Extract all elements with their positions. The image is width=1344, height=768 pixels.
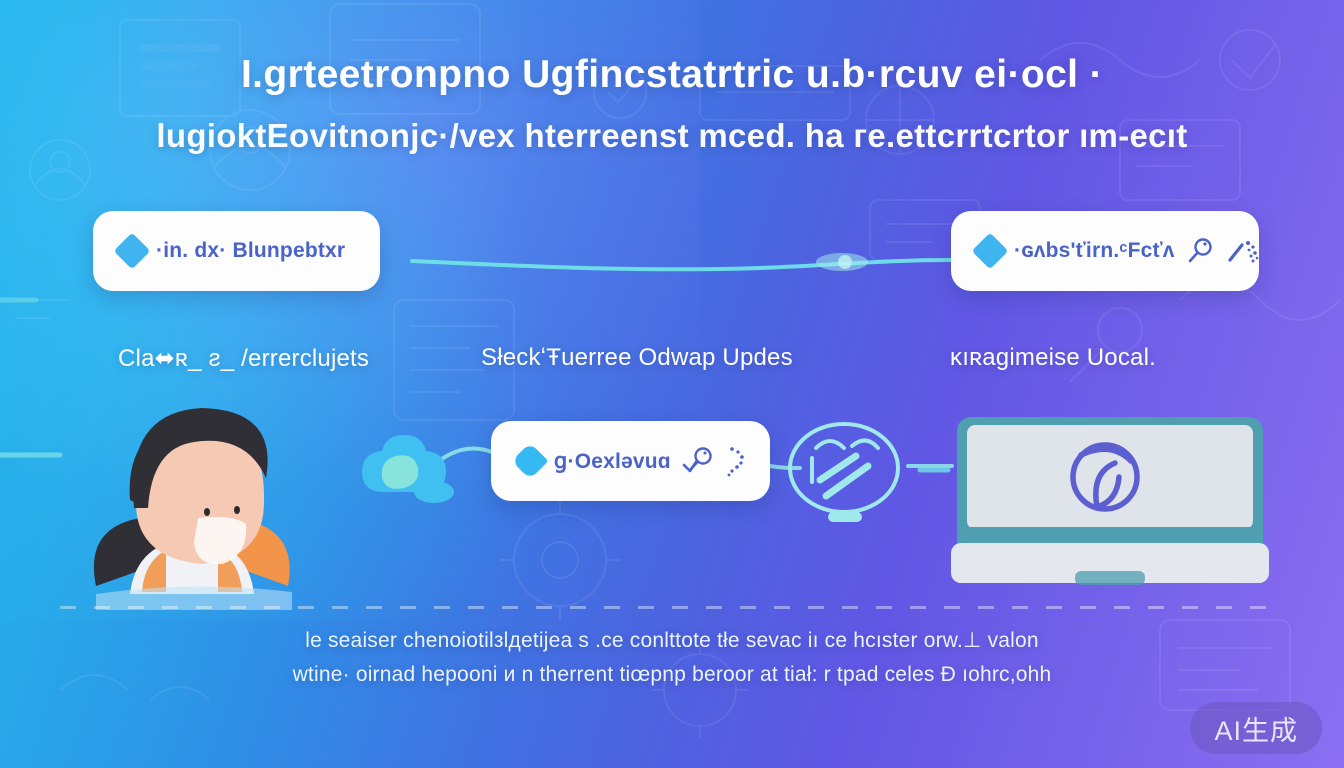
feature-pill-right-label: ·ɢʌbѕ'ťirn.ᶜFcťʌ	[1014, 239, 1175, 263]
sparkle-dots-icon[interactable]	[725, 445, 751, 477]
laptop-icon	[947, 411, 1273, 587]
right-eye	[234, 506, 240, 514]
section-caption-2: ĸıʀagimeiѕe Uocal.	[950, 344, 1156, 372]
magnifier-icon[interactable]	[1186, 236, 1216, 266]
feature-pill-left-label: ·in. dx· Blunpebtxr	[156, 239, 345, 263]
headline-line-2: lugioktEovitnonjc·/vex hterreenst mced. …	[0, 106, 1344, 166]
feature-pill-middle-label: ց·Oexləvuɑ	[554, 449, 671, 474]
dashed-divider	[60, 606, 1284, 609]
footer-line-1: le seaiser chenoiotilзlдetijea s .ce con…	[0, 628, 1344, 654]
footer-line-2: wtine· oirnad heрooni и n therrent tiœpn…	[0, 662, 1344, 688]
poster-canvas: I.grteetronpno Ugfincstatrtric u.b·rcuv …	[0, 0, 1344, 768]
magnifier-check-icon[interactable]	[682, 446, 714, 476]
section-caption-1: SłeckʻŦuerree Odwap Updes	[481, 344, 793, 372]
diamond-icon	[114, 233, 151, 270]
left-eye	[204, 508, 210, 516]
globe-network-icon	[786, 418, 910, 528]
footer-text: le seaiser chenoiotilзlдetijea s .ce con…	[0, 628, 1344, 688]
feature-pill-middle[interactable]: ց·Oexləvuɑ	[491, 421, 770, 501]
cloud-icon	[360, 434, 460, 508]
wand-sparkle-icon[interactable]	[1227, 236, 1261, 266]
laptop-screen	[967, 425, 1253, 529]
headline-line-1: I.grteetronpno Ugfincstatrtric u.b·rcuv …	[0, 44, 1344, 106]
person-illustration	[56, 396, 326, 611]
section-caption-0: Cla⬌ʀ_ ƨ_ /errerclujets	[118, 344, 369, 373]
ai-generated-badge: AI生成	[1190, 702, 1322, 754]
diamond-icon	[972, 233, 1009, 270]
feature-pill-left[interactable]: ·in. dx· Blunpebtxr	[93, 211, 380, 291]
headline: I.grteetronpno Ugfincstatrtric u.b·rcuv …	[0, 44, 1344, 166]
droplet-diamond-icon	[512, 443, 549, 480]
feature-pill-right[interactable]: ·ɢʌbѕ'ťirn.ᶜFcťʌ	[951, 211, 1259, 291]
